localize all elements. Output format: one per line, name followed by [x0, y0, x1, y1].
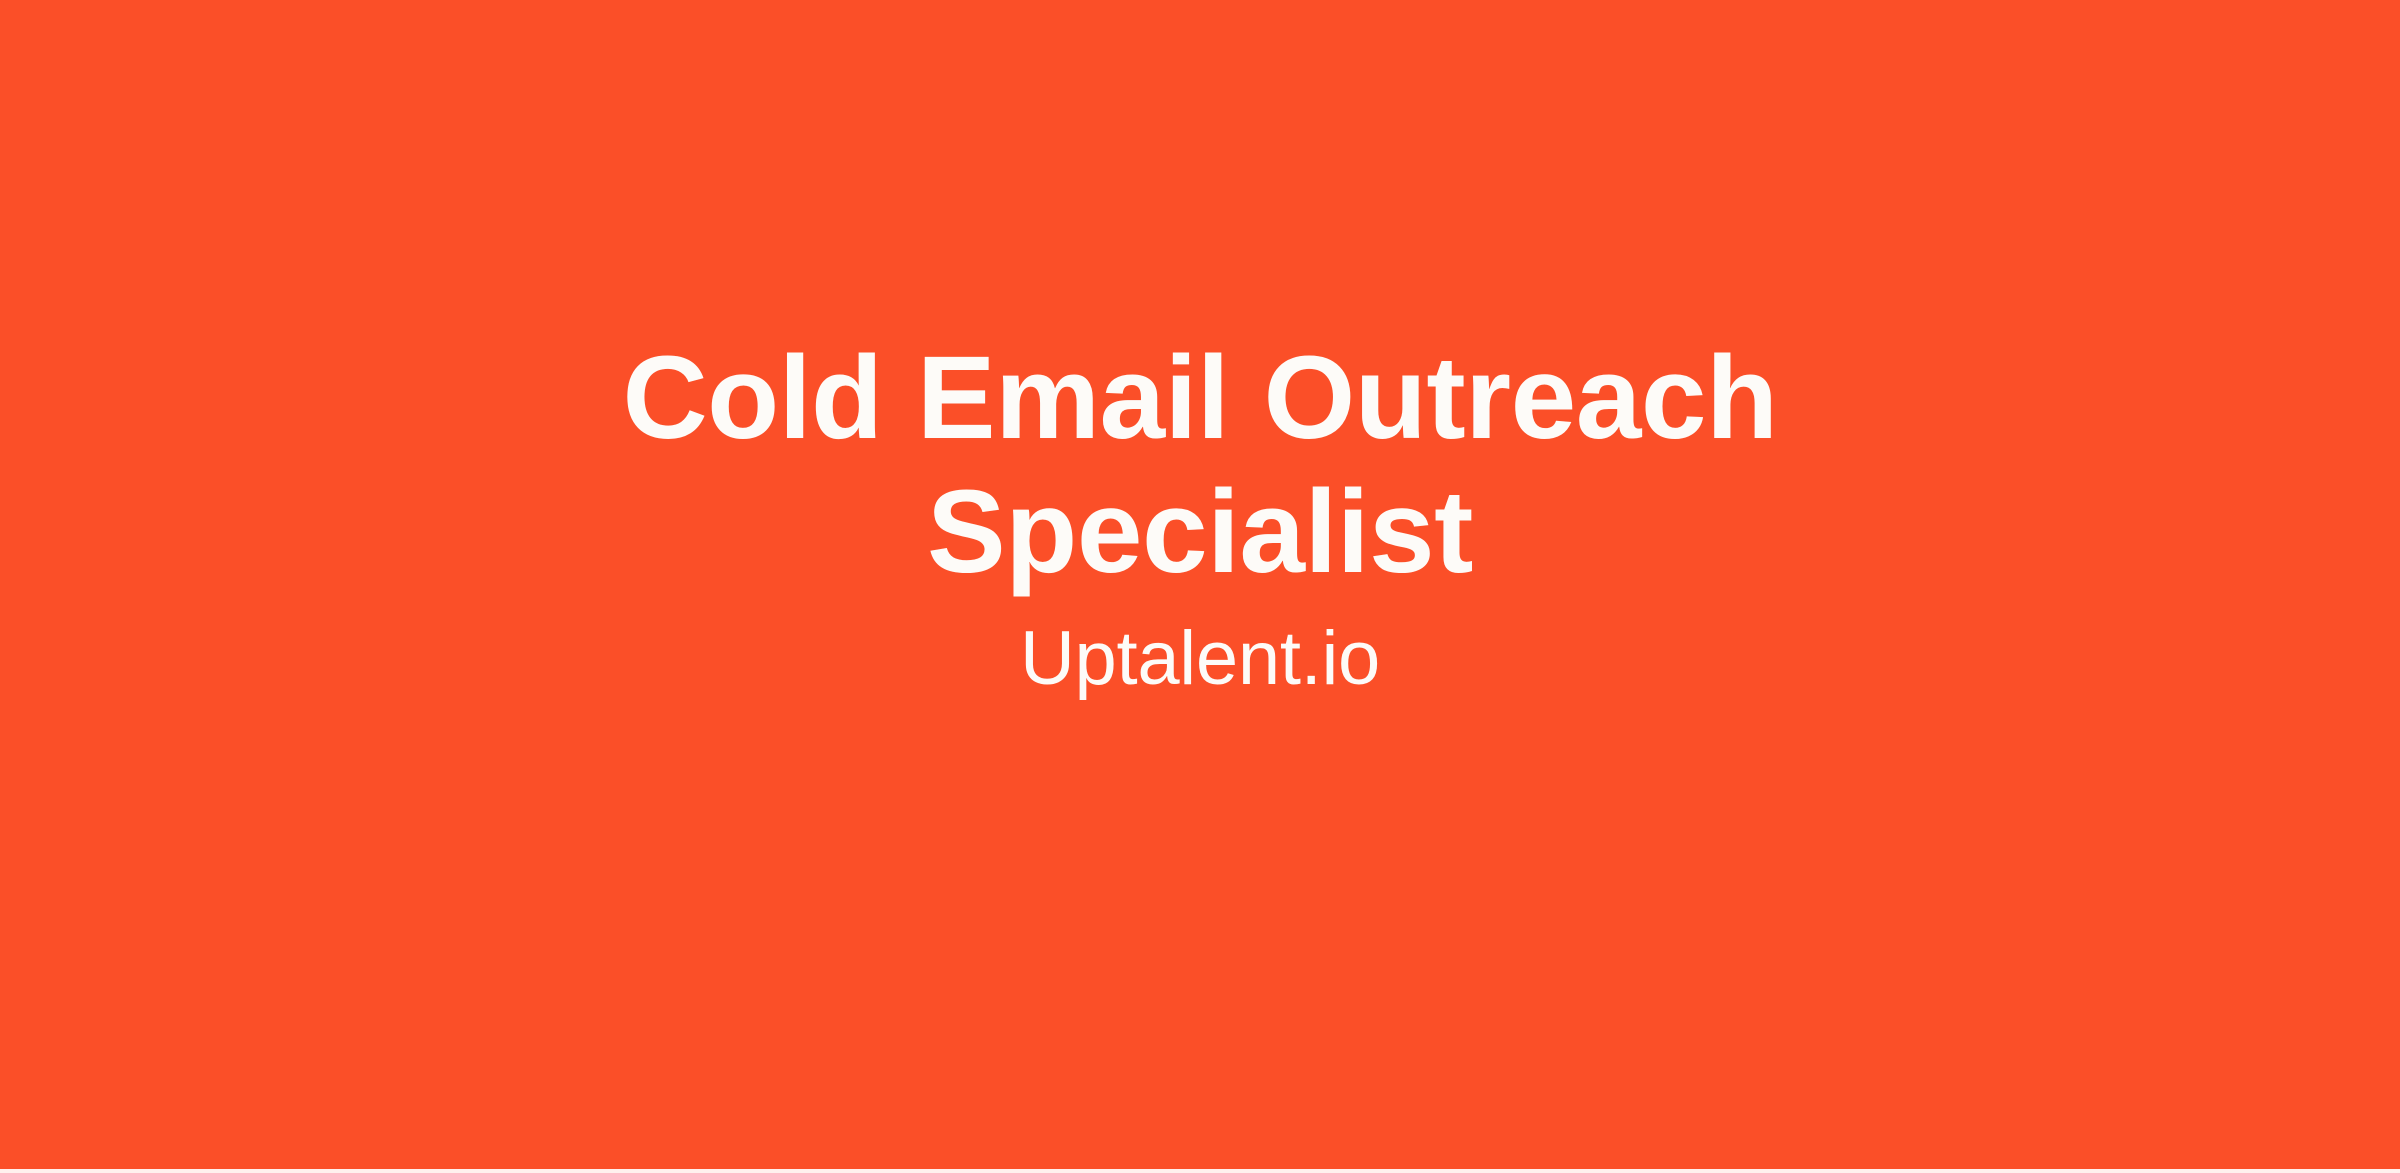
brand-name: Uptalent.io [550, 617, 1850, 701]
bottom-edge-strip [0, 1169, 2400, 1173]
hero-banner: Cold Email Outreach Specialist Uptalent.… [0, 0, 2400, 1173]
page-title: Cold Email Outreach Specialist [550, 332, 1850, 599]
hero-text-block: Cold Email Outreach Specialist Uptalent.… [0, 0, 2400, 1173]
